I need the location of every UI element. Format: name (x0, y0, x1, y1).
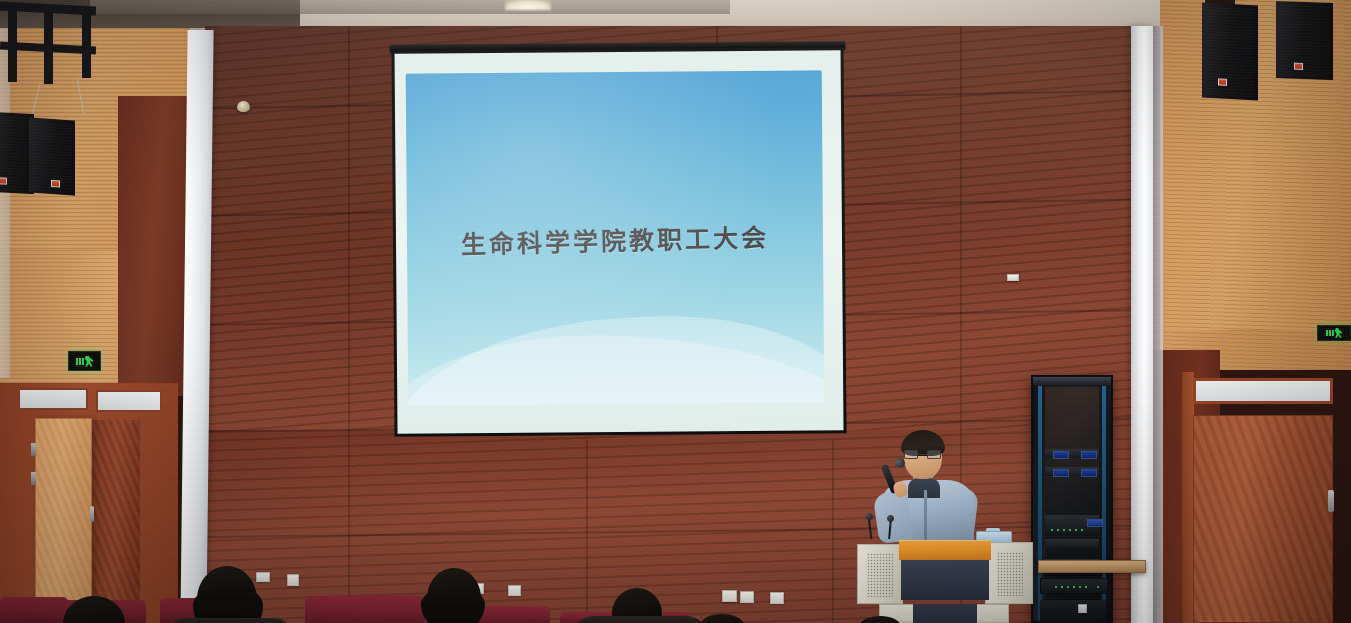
door-hinge (31, 443, 36, 456)
wall-fixture (1007, 274, 1019, 281)
presenter (880, 430, 976, 542)
gooseneck-mic-head (887, 515, 894, 522)
door-handle-left[interactable] (90, 506, 94, 522)
exit-sign-left (68, 351, 101, 371)
wall-seam-vertical (832, 440, 834, 623)
transom-window-right (1193, 378, 1333, 404)
running-man-icon (85, 356, 94, 367)
wall-seam-vertical (586, 440, 588, 623)
projection-screen: 生命科学学院教职工大会 (391, 41, 846, 437)
seat (305, 596, 425, 623)
ceiling-light (505, 0, 551, 10)
ceiling-strip (90, 0, 730, 14)
pillar-right-shadow (1153, 26, 1163, 623)
transom-window-left-2 (96, 390, 162, 412)
audience-shoulders (170, 618, 290, 623)
rack-unit (1045, 449, 1099, 458)
rack-lower-unit (1040, 600, 1106, 623)
seat (0, 597, 68, 623)
lectern-perforation (997, 552, 1023, 596)
lectern-front-panel (901, 560, 989, 600)
wall-switch[interactable] (722, 590, 737, 602)
security-camera-icon (237, 101, 250, 112)
wall-seam-vertical (348, 26, 350, 623)
lectern-side-right (985, 542, 1033, 604)
rack-unit (1045, 539, 1099, 548)
wall-outlet[interactable] (287, 574, 299, 586)
exit-sign-text-right (1326, 330, 1334, 336)
door-left-open[interactable] (35, 418, 92, 623)
wall-outlet[interactable] (770, 592, 784, 604)
exit-sign-right (1317, 325, 1351, 341)
rack-amplifier (1040, 578, 1108, 594)
speaker-top-right-2 (1276, 1, 1333, 80)
lectern-top-band (899, 540, 991, 560)
door-right[interactable] (1193, 415, 1333, 623)
door-handle-right[interactable] (1328, 490, 1334, 512)
audience-shoulders (575, 616, 705, 623)
auditorium-photo: 生命科学学院教职工大会 (0, 0, 1351, 623)
transom-window-left-1 (18, 388, 88, 410)
wall-switch[interactable] (256, 572, 270, 582)
slide-wave-front (406, 307, 825, 405)
glasses-icon (904, 450, 942, 459)
rack-top-panel (1033, 377, 1111, 386)
wall-outlet[interactable] (508, 585, 521, 596)
screen-frame: 生命科学学院教职工大会 (392, 47, 847, 437)
pillar-right (1131, 26, 1153, 623)
rack-pullout-shelf[interactable] (1038, 560, 1146, 573)
lectern-base-panel (913, 604, 977, 623)
running-man-icon (1335, 328, 1343, 338)
door-hinge (31, 472, 36, 485)
exit-sign-text-left (76, 358, 84, 365)
audience-hair (421, 588, 485, 623)
speaker-top-right-1 (1202, 3, 1258, 101)
wall-switch[interactable] (740, 591, 754, 603)
wood-strip-left (118, 96, 188, 396)
presentation-slide: 生命科学学院教职工大会 (406, 70, 825, 405)
door-left-inner-panel[interactable] (92, 420, 140, 623)
rack-unit (1045, 467, 1099, 476)
slide-title: 生命科学学院教职工大会 (407, 217, 824, 263)
gooseneck-mic-head (866, 513, 873, 520)
lectern (857, 533, 1033, 623)
ceiling-truss (0, 0, 100, 95)
speaker-top-left-2 (29, 117, 75, 195)
rack-mixer (1045, 515, 1099, 533)
rack-button[interactable] (1078, 604, 1087, 613)
lectern-perforation (867, 553, 893, 597)
lectern-side-left (857, 544, 903, 604)
